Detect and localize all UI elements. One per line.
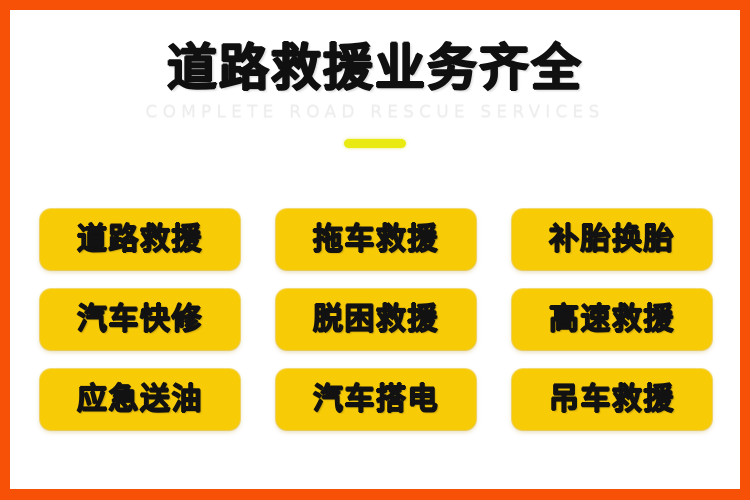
service-chip-crane-rescue[interactable]: 吊车救援: [512, 369, 712, 430]
service-chip-jump-start[interactable]: 汽车搭电: [276, 369, 476, 430]
service-chip-extrication-rescue[interactable]: 脱困救援: [276, 289, 476, 350]
accent-divider: [344, 139, 406, 148]
service-chip-highway-rescue[interactable]: 高速救援: [512, 289, 712, 350]
page-subtitle: COMPLETE ROAD RESCUE SERVICES: [10, 95, 740, 121]
poster-root: 道路救援业务齐全 COMPLETE ROAD RESCUE SERVICES 道…: [0, 0, 750, 500]
poster-canvas: 道路救援业务齐全 COMPLETE ROAD RESCUE SERVICES 道…: [10, 10, 740, 489]
service-chip-label: 高速救援: [549, 305, 675, 335]
service-chip-tow-rescue[interactable]: 拖车救援: [276, 209, 476, 270]
service-chip-label: 脱困救援: [313, 305, 439, 335]
page-title: 道路救援业务齐全: [10, 10, 740, 95]
accent-bar-wrap: [10, 121, 740, 152]
service-chip-label: 汽车搭电: [313, 385, 439, 415]
service-chip-label: 应急送油: [77, 385, 203, 415]
service-grid: 道路救援 拖车救援 补胎换胎 汽车快修 脱困救援 高速救援 应急送油 汽车搭电: [40, 209, 712, 430]
service-chip-label: 补胎换胎: [549, 225, 675, 255]
service-chip-label: 汽车快修: [77, 305, 203, 335]
service-chip-quick-repair[interactable]: 汽车快修: [40, 289, 240, 350]
service-chip-road-rescue[interactable]: 道路救援: [40, 209, 240, 270]
service-chip-label: 拖车救援: [313, 225, 439, 255]
poster-header: 道路救援业务齐全 COMPLETE ROAD RESCUE SERVICES: [10, 10, 740, 152]
service-chip-tire-repair[interactable]: 补胎换胎: [512, 209, 712, 270]
service-chip-emergency-fuel[interactable]: 应急送油: [40, 369, 240, 430]
service-chip-label: 道路救援: [77, 225, 203, 255]
service-chip-label: 吊车救援: [549, 385, 675, 415]
